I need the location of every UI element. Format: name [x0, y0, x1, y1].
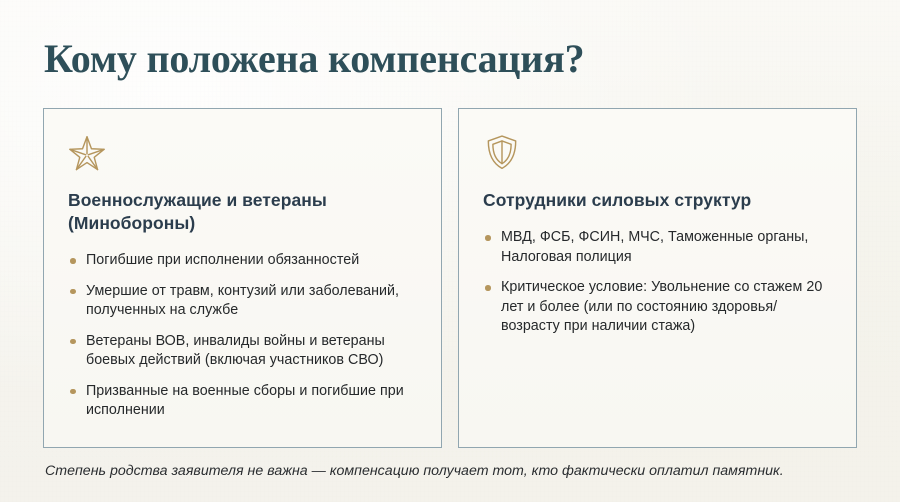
list-item-text: Ветераны ВОВ, инвалиды войны и ветераны …: [86, 333, 385, 369]
shield-icon: [483, 133, 521, 171]
list-item-text: Погибшие при исполнении обязанностей: [86, 252, 359, 268]
bullet-dot-icon: [70, 389, 76, 395]
card-military: Военнослужащие и ветераны (Минобороны) П…: [43, 108, 442, 448]
list-item: Критическое условие: Увольнение со стаже…: [483, 278, 832, 337]
bullet-dot-icon: [70, 339, 76, 345]
card-heading-security-services: Сотрудники силовых структур: [483, 189, 813, 212]
bullet-dot-icon: [70, 258, 76, 264]
list-item: Умершие от травм, контузий или заболеван…: [68, 282, 417, 321]
star-icon: [68, 133, 106, 171]
list-item: Ветераны ВОВ, инвалиды войны и ветераны …: [68, 332, 417, 371]
bullet-dot-icon: [485, 235, 491, 241]
list-item-text: Умершие от травм, контузий или заболеван…: [86, 283, 399, 319]
bullet-list-security-services: МВД, ФСБ, ФСИН, МЧС, Таможенные органы, …: [483, 228, 832, 337]
bullet-list-military: Погибшие при исполнении обязанностей Уме…: [68, 251, 417, 421]
bullet-dot-icon: [70, 289, 76, 295]
list-item-text: Критическое условие: Увольнение со стаже…: [501, 279, 822, 334]
slide-canvas: Кому положена компенсация? Военнослужащи…: [0, 0, 900, 502]
footnote-text: Степень родства заявителя не важна — ком…: [45, 462, 784, 481]
bullet-dot-icon: [485, 285, 491, 291]
cards-row: Военнослужащие и ветераны (Минобороны) П…: [43, 108, 857, 448]
list-item-text: Призванные на военные сборы и погибшие п…: [86, 383, 404, 419]
list-item: Погибшие при исполнении обязанностей: [68, 251, 417, 271]
card-heading-military: Военнослужащие и ветераны (Минобороны): [68, 189, 398, 235]
page-title: Кому положена компенсация?: [44, 36, 584, 82]
list-item-text: МВД, ФСБ, ФСИН, МЧС, Таможенные органы, …: [501, 229, 808, 265]
list-item: МВД, ФСБ, ФСИН, МЧС, Таможенные органы, …: [483, 228, 832, 267]
list-item: Призванные на военные сборы и погибшие п…: [68, 382, 417, 421]
card-security-services: Сотрудники силовых структур МВД, ФСБ, ФС…: [458, 108, 857, 448]
